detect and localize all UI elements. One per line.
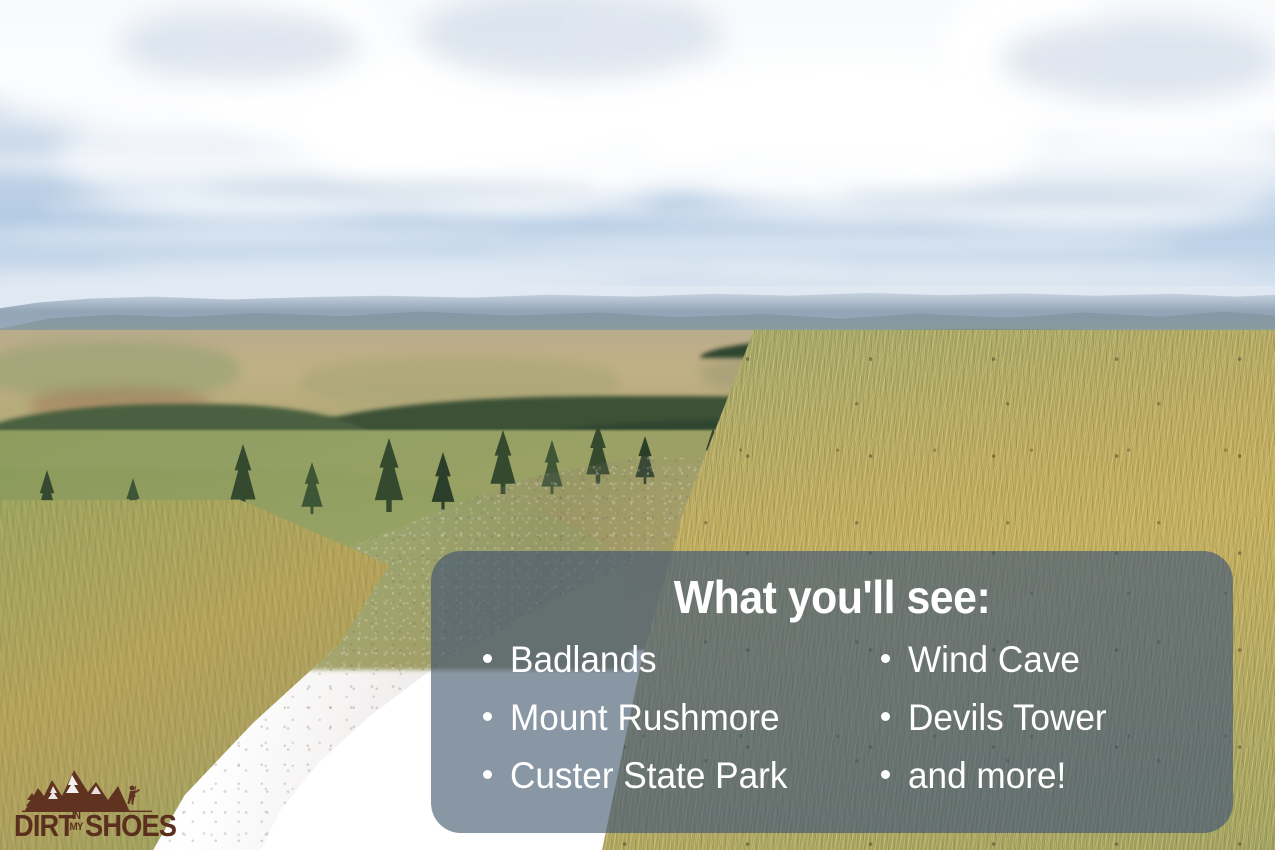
sky (0, 0, 1275, 310)
list-item-label: and more! (908, 747, 1066, 805)
left-column: Badlands Mount Rushmore Custer State Par… (461, 631, 881, 804)
bullet-icon (483, 654, 492, 663)
horizon-haze (0, 286, 1275, 312)
panel-columns: Badlands Mount Rushmore Custer State Par… (455, 631, 1209, 804)
bullet-icon (483, 770, 492, 779)
list-item-label: Devils Tower (908, 689, 1107, 747)
logo-word-dirt: DIRT (14, 808, 74, 844)
cloud-layer (0, 0, 1275, 310)
brand-logo: DIRT IN MY SHOES (8, 766, 178, 844)
logo-word-inmy: IN MY (69, 811, 83, 833)
mountain-hiker-icon (22, 766, 152, 812)
list-item-label: Wind Cave (908, 631, 1080, 689)
logo-word-my: MY (69, 822, 83, 833)
list-item-label: Mount Rushmore (510, 689, 780, 747)
bullet-icon (483, 712, 492, 721)
list-item: Devils Tower (881, 689, 1231, 747)
logo-word-shoes: SHOES (85, 808, 176, 844)
list-item-label: Badlands (510, 631, 657, 689)
list-item: Custer State Park (461, 747, 881, 805)
what-youll-see-panel: What you'll see: Badlands Mount Rushmore… (431, 551, 1233, 833)
list-item: and more! (881, 747, 1231, 805)
destination-list-right: Wind Cave Devils Tower and more! (881, 631, 1231, 804)
bullet-icon (881, 654, 890, 663)
bullet-icon (881, 770, 890, 779)
list-item-label: Custer State Park (510, 747, 787, 805)
list-item: Mount Rushmore (461, 689, 881, 747)
list-item: Wind Cave (881, 631, 1231, 689)
panel-title: What you'll see: (481, 573, 1182, 621)
destination-list-left: Badlands Mount Rushmore Custer State Par… (461, 631, 881, 804)
logo-wordmark: DIRT IN MY SHOES (12, 810, 176, 842)
bullet-icon (881, 712, 890, 721)
promo-image: What you'll see: Badlands Mount Rushmore… (0, 0, 1275, 850)
list-item: Badlands (461, 631, 881, 689)
right-column: Wind Cave Devils Tower and more! (881, 631, 1231, 804)
